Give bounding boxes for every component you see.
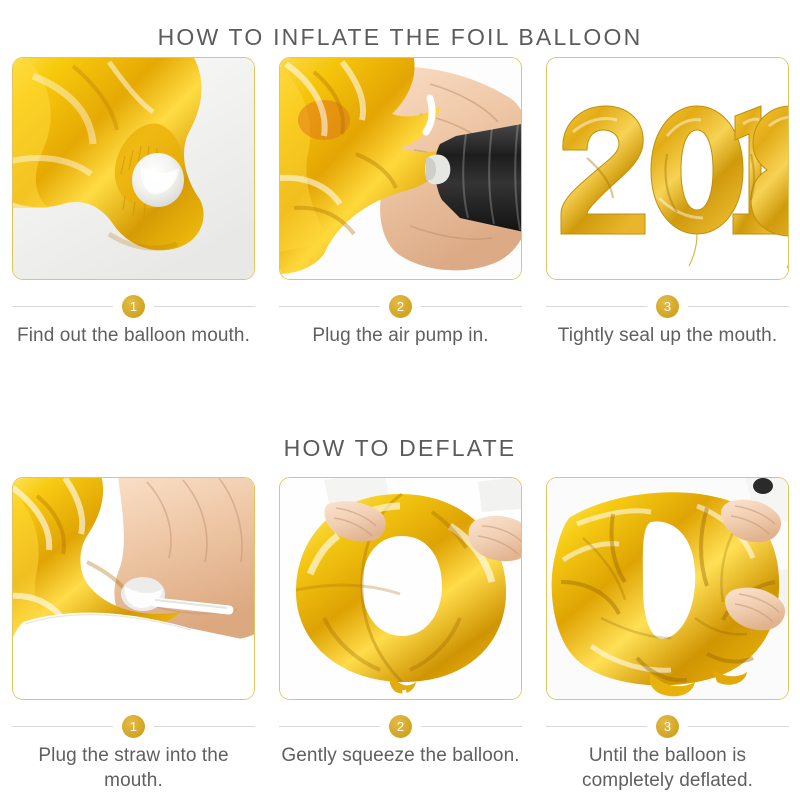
photo-balloon-mouth-valve — [12, 57, 255, 280]
photo-inflated-2018-balloons — [546, 57, 789, 280]
balloon-mouth-illustration — [13, 58, 255, 280]
step-number-badge: 2 — [389, 295, 412, 318]
divider-line-left — [12, 306, 113, 307]
step-divider-deflate-1: 1 — [12, 709, 255, 743]
step-row-inflate: 1 Find out the balloon mouth. — [12, 57, 788, 348]
step-caption-inflate-3: Tightly seal up the mouth. — [546, 323, 789, 348]
divider-line-left — [279, 726, 380, 727]
step-card-deflate-3: 3 Until the balloon is completely deflat… — [546, 477, 789, 793]
air-pump-illustration — [280, 58, 522, 280]
deflated-balloon-illustration — [547, 478, 789, 700]
photo-fully-deflated-balloon — [546, 477, 789, 700]
straw-insert-illustration — [13, 478, 255, 700]
photo-squeeze-balloon — [279, 477, 522, 700]
step-caption-deflate-2: Gently squeeze the balloon. — [279, 743, 522, 768]
step-card-inflate-2: 2 Plug the air pump in. — [279, 57, 522, 348]
step-card-deflate-2: 2 Gently squeeze the balloon. — [279, 477, 522, 793]
step-number-badge: 2 — [389, 715, 412, 738]
step-card-deflate-1: 1 Plug the straw into the mouth. — [12, 477, 255, 793]
step-row-deflate: 1 Plug the straw into the mouth. — [12, 477, 788, 793]
divider-line-left — [546, 306, 647, 307]
divider-line-right — [154, 306, 255, 307]
step-card-inflate-1: 1 Find out the balloon mouth. — [12, 57, 255, 348]
divider-line-right — [421, 306, 522, 307]
step-number-badge: 3 — [656, 295, 679, 318]
step-caption-inflate-1: Find out the balloon mouth. — [12, 323, 255, 348]
divider-line-right — [421, 726, 522, 727]
section-title-deflate: HOW TO DEFLATE — [0, 437, 800, 460]
step-divider-deflate-3: 3 — [546, 709, 789, 743]
step-caption-deflate-3: Until the balloon is completely deflated… — [546, 743, 789, 793]
squeeze-balloon-illustration — [280, 478, 522, 700]
number-balloons-2018-illustration — [547, 58, 789, 280]
divider-line-right — [688, 306, 789, 307]
divider-line-right — [688, 726, 789, 727]
step-caption-inflate-2: Plug the air pump in. — [279, 323, 522, 348]
infographic-page: HOW TO INFLATE THE FOIL BALLOON — [0, 0, 800, 800]
divider-line-right — [154, 726, 255, 727]
step-number-badge: 3 — [656, 715, 679, 738]
photo-air-pump-inserted — [279, 57, 522, 280]
step-divider-inflate-3: 3 — [546, 289, 789, 323]
step-number-badge: 1 — [122, 715, 145, 738]
step-divider-inflate-1: 1 — [12, 289, 255, 323]
step-card-inflate-3: 3 Tightly seal up the mouth. — [546, 57, 789, 348]
step-divider-inflate-2: 2 — [279, 289, 522, 323]
divider-line-left — [546, 726, 647, 727]
photo-straw-into-mouth — [12, 477, 255, 700]
step-number-badge: 1 — [122, 295, 145, 318]
divider-line-left — [12, 726, 113, 727]
step-divider-deflate-2: 2 — [279, 709, 522, 743]
step-caption-deflate-1: Plug the straw into the mouth. — [12, 743, 255, 793]
section-title-inflate: HOW TO INFLATE THE FOIL BALLOON — [0, 26, 800, 49]
divider-line-left — [279, 306, 380, 307]
